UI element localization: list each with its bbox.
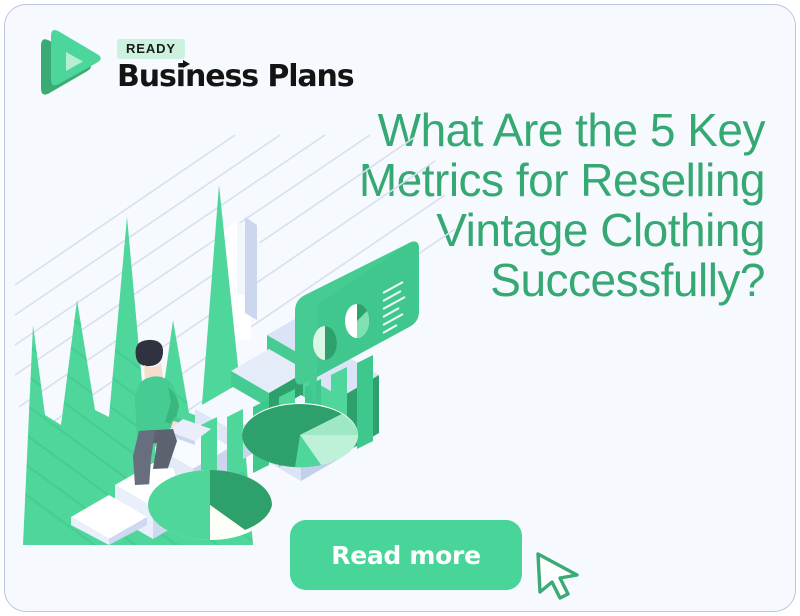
read-more-button[interactable]: Read more bbox=[290, 520, 522, 590]
bubble-pie-2 bbox=[345, 304, 369, 338]
isometric-analytics-illustration bbox=[5, 125, 465, 545]
brand-text: READY Business Plans bbox=[117, 39, 354, 92]
play-triangle-logo-icon bbox=[35, 30, 103, 102]
pie-chart-large bbox=[148, 470, 272, 540]
brand-name: Business Plans bbox=[117, 61, 354, 93]
pie-chart-small bbox=[242, 403, 358, 467]
bubble-pie-1 bbox=[313, 326, 337, 360]
brand-lockup: READY Business Plans bbox=[35, 30, 354, 102]
small-play-triangle-icon bbox=[183, 60, 190, 68]
promo-card: READY Business Plans What Are the 5 Key … bbox=[4, 4, 796, 612]
arrow-shadow bbox=[245, 217, 257, 320]
mouse-cursor-arrow-icon bbox=[530, 548, 588, 602]
ready-badge: READY bbox=[117, 39, 185, 59]
